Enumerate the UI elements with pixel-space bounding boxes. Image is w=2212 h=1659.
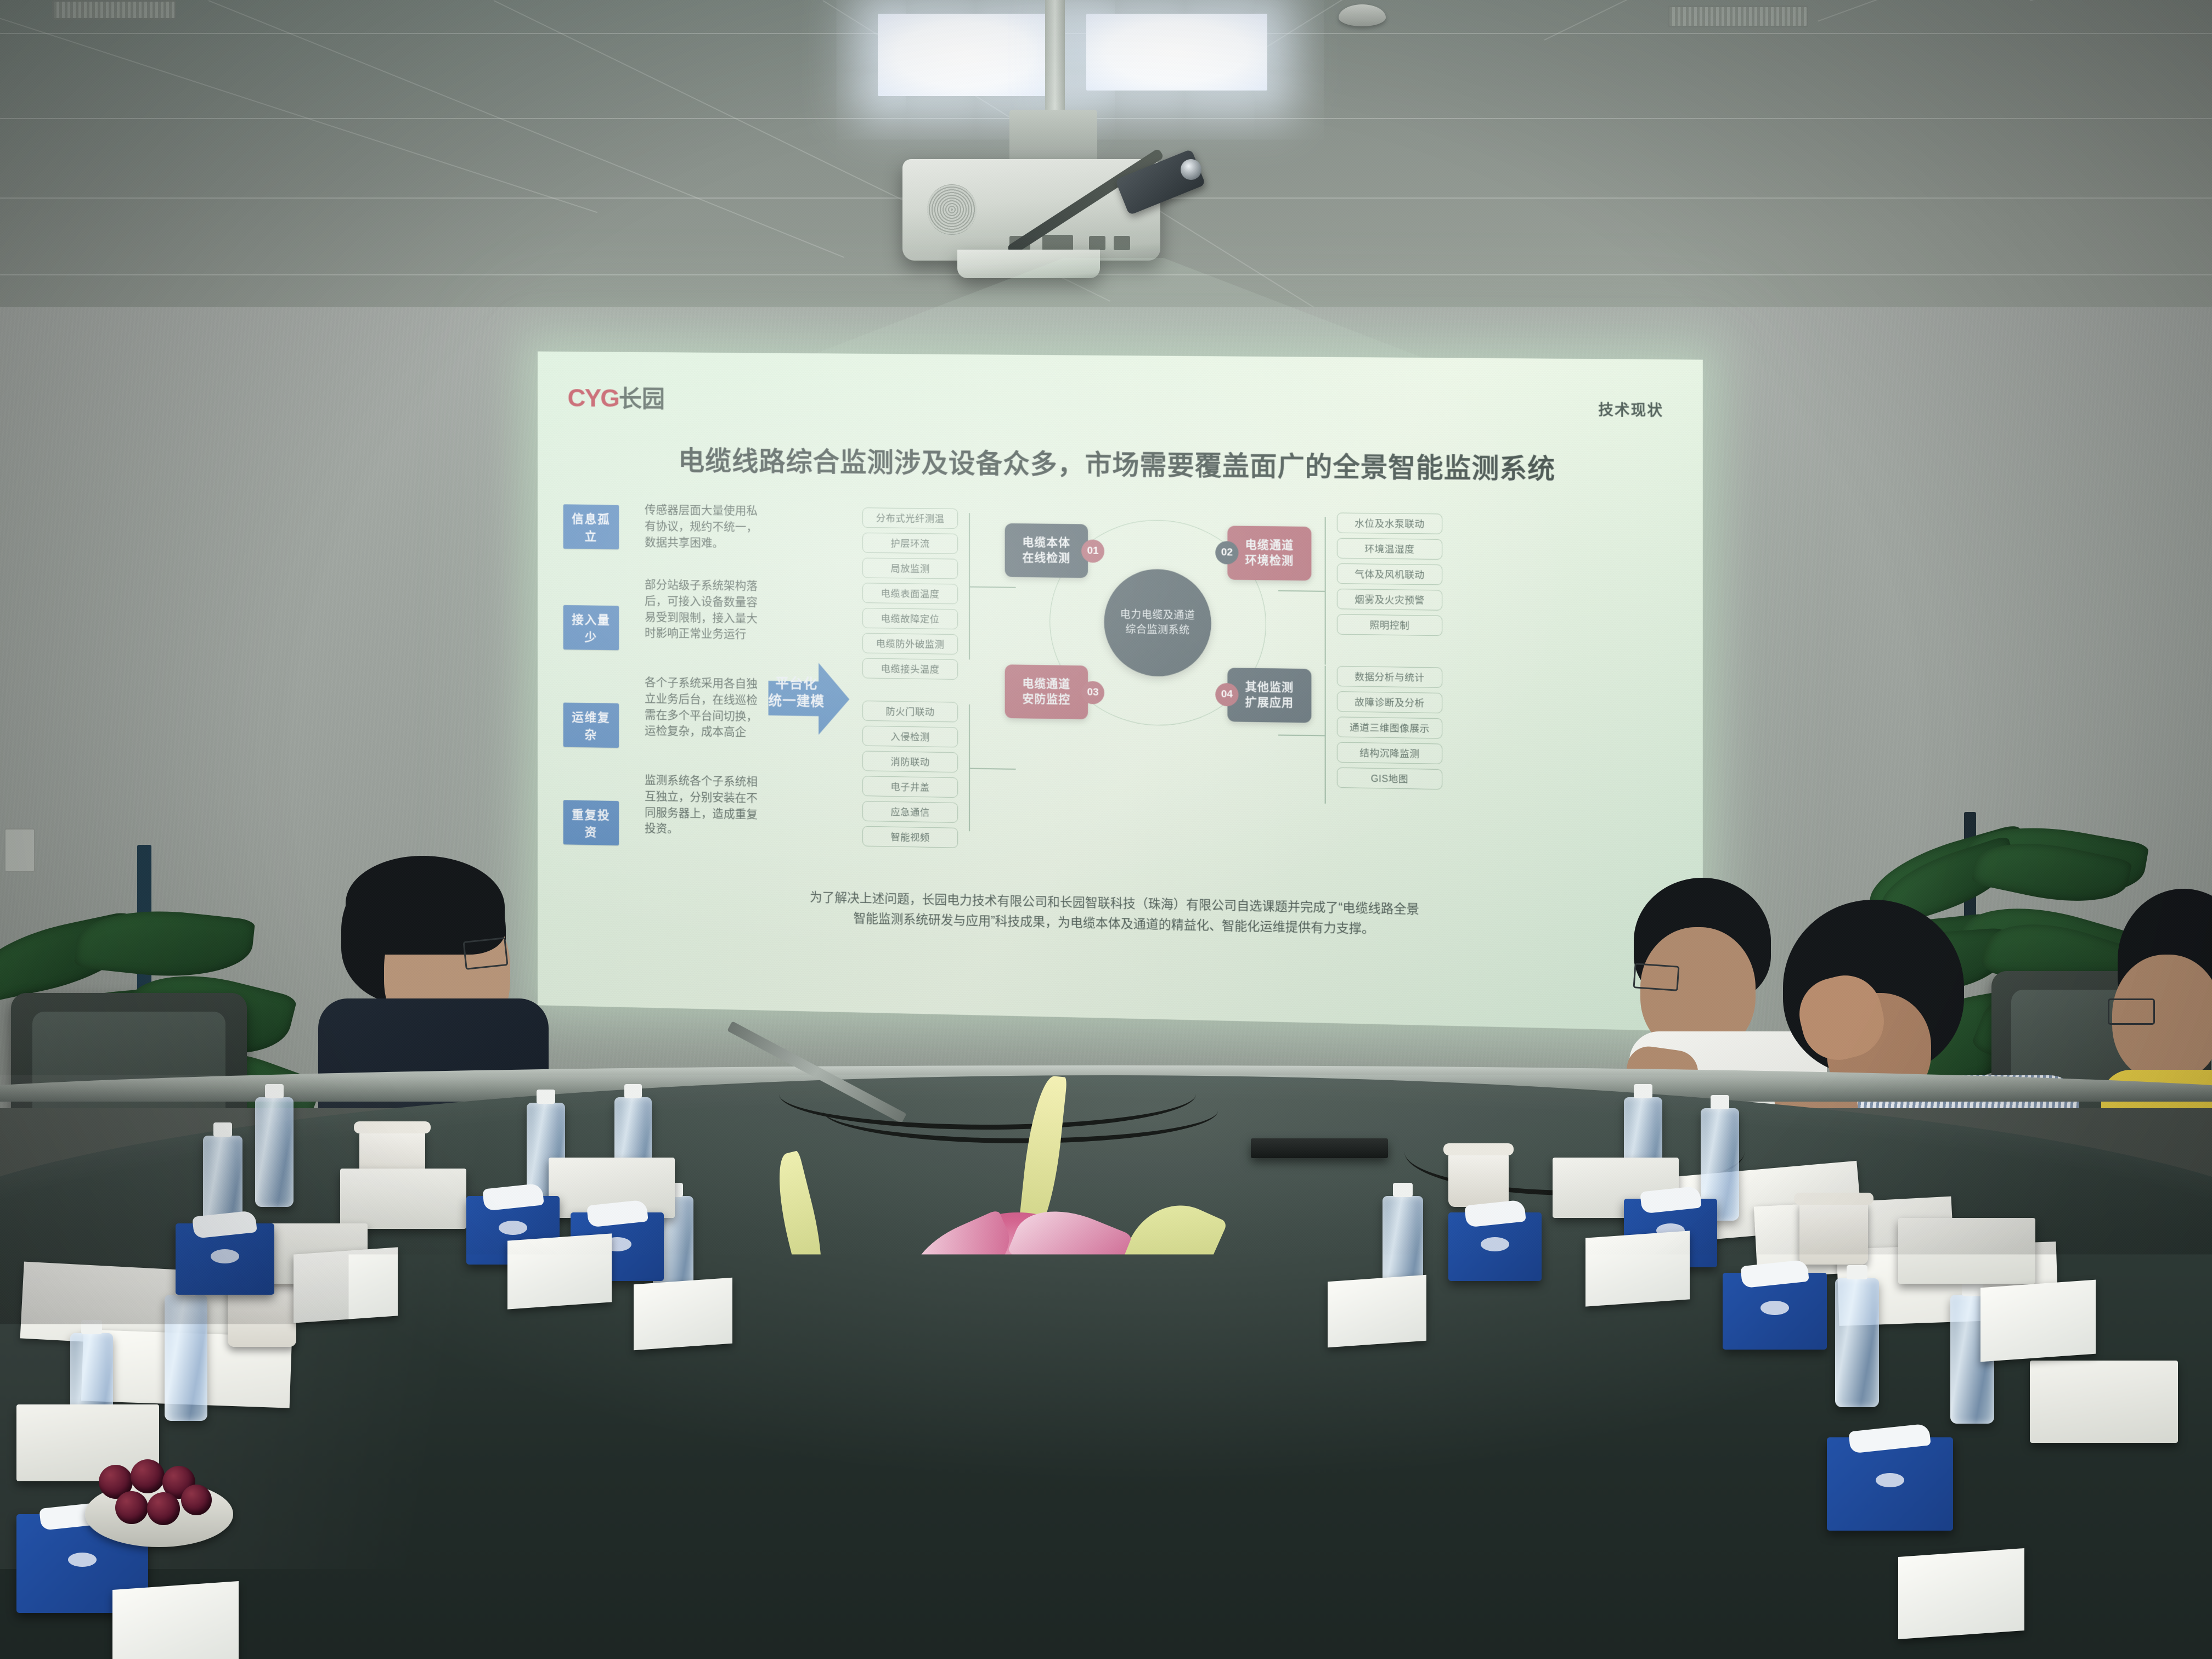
tag: 通道三维图像展示: [1337, 716, 1442, 738]
quadrant-label-line1: 电缆通道: [1022, 678, 1070, 691]
meeting-room-photo: CYG长园 技术现状 电缆线路综合监测涉及设备众多，市场需要覆盖面广的全景智能监…: [0, 0, 2212, 1659]
quadrant-label-line2: 在线检测: [1022, 551, 1070, 565]
tag-group-right-top: 水位及水泵联动 环境温湿度 气体及风机联动 烟雾及火灾预警 照明控制: [1337, 512, 1442, 641]
grape: [131, 1459, 165, 1493]
tag: 环境温湿度: [1337, 538, 1442, 560]
bullet-chip: 接入量少: [563, 605, 619, 650]
bullet-chip: 信息孤立: [563, 504, 619, 549]
hub-core-line1: 电力电缆及通道: [1120, 608, 1195, 621]
white-tissue-box[interactable]: [340, 1169, 466, 1229]
smoke-detector: [1339, 4, 1386, 26]
bullet-chip: 运维复杂: [563, 703, 619, 748]
panel-light-right: [1086, 14, 1267, 91]
lily-petal-yellow: [768, 1150, 833, 1296]
tag-group-left-top: 分布式光纤测温 护层环流 局放监测 电缆表面温度 电缆故障定位 电缆防外破监测 …: [862, 507, 958, 685]
cyg-logo: CYG长园: [568, 380, 665, 414]
tag: 电缆防外破监测: [862, 633, 958, 654]
tag: 结构沉降监测: [1337, 742, 1442, 764]
suspended-ceiling: [0, 0, 2212, 329]
quadrant-label-line1: 其他监测: [1245, 681, 1294, 694]
logo-chinese-name: 长园: [619, 386, 665, 413]
slide-section-label: 技术现状: [1598, 398, 1663, 420]
tag: 电子井盖: [862, 776, 958, 798]
water-bottle[interactable]: [255, 1097, 294, 1207]
bullet-item: 接入量少 部分站级子系统架构落后，可接入设备数量容易受到限制，接入量大时影响正常…: [563, 579, 757, 661]
bullet-text: 各个子系统采用各自独立业务后台，在线巡检需在多个平台间切换，运检复杂，成本高企: [645, 674, 759, 741]
bullet-item: 运维复杂 各个子系统采用各自独立业务后台，在线巡检需在多个平台间切换，运检复杂，…: [563, 676, 757, 759]
white-tissue-box[interactable]: [2030, 1361, 2178, 1443]
logo-mark: CYG: [568, 383, 619, 412]
slide-footer-text: 为了解决上述问题，长园电力技术有限公司和长园智联科技（珠海）有限公司自选课题并完…: [596, 883, 1641, 945]
hub-quadrant-02: 电缆通道 环境检测: [1227, 526, 1311, 580]
ceiling-air-vent-left: [52, 0, 176, 20]
tag: 水位及水泵联动: [1337, 512, 1442, 534]
bullet-text: 传感器层面大量使用私有协议，规约不统一，数据共享困难。: [645, 502, 759, 552]
name-card-tent[interactable]: [1980, 1280, 2096, 1362]
projector-port: [1089, 236, 1105, 250]
name-card-tent[interactable]: [1585, 1231, 1690, 1306]
tag: 应急通信: [862, 801, 958, 823]
hub-quadrant-01: 电缆本体 在线检测: [1005, 523, 1088, 578]
connector-stub: [969, 586, 1015, 588]
name-card-tent[interactable]: [1898, 1548, 2024, 1639]
hub-quadrant-03: 电缆通道 安防监控: [1005, 664, 1088, 719]
tag: 气体及风机联动: [1337, 563, 1442, 585]
hub-badge-03: 03: [1081, 681, 1104, 704]
pink-rose: [861, 1383, 988, 1503]
connector-stub: [969, 768, 1015, 770]
tag: GIS地图: [1337, 768, 1442, 789]
lidded-tea-cup[interactable]: [1799, 1201, 1868, 1265]
blue-tissue-box[interactable]: [1723, 1273, 1827, 1350]
hub-badge-01: 01: [1081, 539, 1104, 562]
projector-mount-rod: [1045, 0, 1065, 118]
tag: 电缆表面温度: [862, 583, 958, 604]
arrow-label-line1: 平台化: [762, 675, 831, 693]
blue-tissue-box[interactable]: [176, 1223, 274, 1295]
projector-lens-housing: [957, 250, 1100, 278]
monitoring-system-hub: 电力电缆及通道 综合监测系统 电缆本体 在线检测 01 电缆通道 环境检测 02: [1013, 511, 1304, 735]
presenter-glasses: [462, 937, 508, 970]
problem-bullet-list: 信息孤立 传感器层面大量使用私有协议，规约不统一，数据共享困难。 接入量少 部分…: [563, 504, 757, 875]
tag: 分布式光纤测温: [862, 507, 958, 529]
tag: 照明控制: [1337, 614, 1442, 636]
hub-core-line2: 综合监测系统: [1125, 623, 1189, 636]
white-tissue-box[interactable]: [1898, 1218, 2035, 1284]
camera-lens-icon: [1181, 159, 1201, 180]
hub-badge-04: 04: [1215, 683, 1238, 707]
tag: 烟雾及火灾预警: [1337, 589, 1442, 611]
grape: [115, 1491, 148, 1524]
projector-vent-icon: [927, 184, 977, 235]
platform-arrow-label: 平台化 统一建模: [762, 675, 831, 710]
hub-core: 电力电缆及通道 综合监测系统: [1104, 568, 1211, 677]
tag: 故障诊断及分析: [1337, 691, 1442, 713]
tag-group-right-bottom: 数据分析与统计 故障诊断及分析 通道三维图像展示 结构沉降监测 GIS地图: [1337, 666, 1442, 795]
bullet-text: 监测系统各个子系统相互独立，分别安装在不同服务器上，造成重复投资。: [645, 772, 759, 839]
tag: 电缆故障定位: [862, 608, 958, 629]
tag: 数据分析与统计: [1337, 666, 1442, 688]
tag-group-left-bottom: 防火门联动 入侵检测 消防联动 电子井盖 应急通信 智能视频: [862, 701, 958, 853]
tag: 局放监测: [862, 558, 958, 579]
panel-light-left: [878, 14, 1053, 96]
projector-mount-bracket: [1009, 110, 1097, 165]
grape: [181, 1485, 212, 1515]
blue-tissue-box[interactable]: [1827, 1437, 1953, 1531]
tag: 电缆接头温度: [862, 658, 958, 680]
pink-rose: [1158, 1267, 1262, 1363]
pink-rose: [774, 1415, 878, 1514]
water-bottle[interactable]: [165, 1295, 207, 1421]
purple-orchid: [1136, 1624, 1240, 1659]
quadrant-label-line1: 电缆通道: [1245, 539, 1294, 552]
quadrant-label-line2: 扩展应用: [1245, 696, 1294, 709]
quadrant-label-line1: 电缆本体: [1022, 536, 1070, 549]
name-card-tent[interactable]: [294, 1247, 398, 1323]
tag: 护层环流: [862, 533, 958, 554]
projector-port: [1042, 235, 1073, 251]
tag: 入侵检测: [862, 726, 958, 748]
quadrant-label-line2: 环境检测: [1245, 554, 1294, 567]
projector-port: [1114, 236, 1130, 250]
name-card-tent[interactable]: [112, 1581, 239, 1659]
tag: 防火门联动: [862, 701, 958, 723]
bullet-item: 信息孤立 传感器层面大量使用私有协议，规约不统一，数据共享困难。: [563, 504, 757, 563]
attendee-yellow-glasses: [2108, 998, 2155, 1025]
hub-badge-02: 02: [1215, 541, 1238, 565]
arrow-label-line2: 统一建模: [762, 692, 831, 710]
floral-centerpiece: [576, 1075, 1509, 1659]
hub-quadrant-04: 其他监测 扩展应用: [1227, 668, 1311, 723]
slide-title: 电缆线路综合监测涉及设备众多，市场需要覆盖面广的全景智能监测系统: [538, 438, 1703, 488]
connector-rail: [1325, 666, 1326, 804]
water-bottle[interactable]: [1835, 1278, 1879, 1407]
projected-slide: CYG长园 技术现状 电缆线路综合监测涉及设备众多，市场需要覆盖面广的全景智能监…: [538, 352, 1703, 1032]
bullet-text: 部分站级子系统架构落后，可接入设备数量容易受到限制，接入量大时影响正常业务运行: [645, 577, 759, 643]
ceiling-air-vent: [1668, 5, 1808, 27]
quadrant-label-line2: 安防监控: [1022, 693, 1070, 706]
grape: [147, 1492, 180, 1525]
attendee-white-polo-glasses: [1633, 963, 1679, 991]
tag: 智能视频: [862, 826, 958, 848]
tag: 消防联动: [862, 751, 958, 773]
